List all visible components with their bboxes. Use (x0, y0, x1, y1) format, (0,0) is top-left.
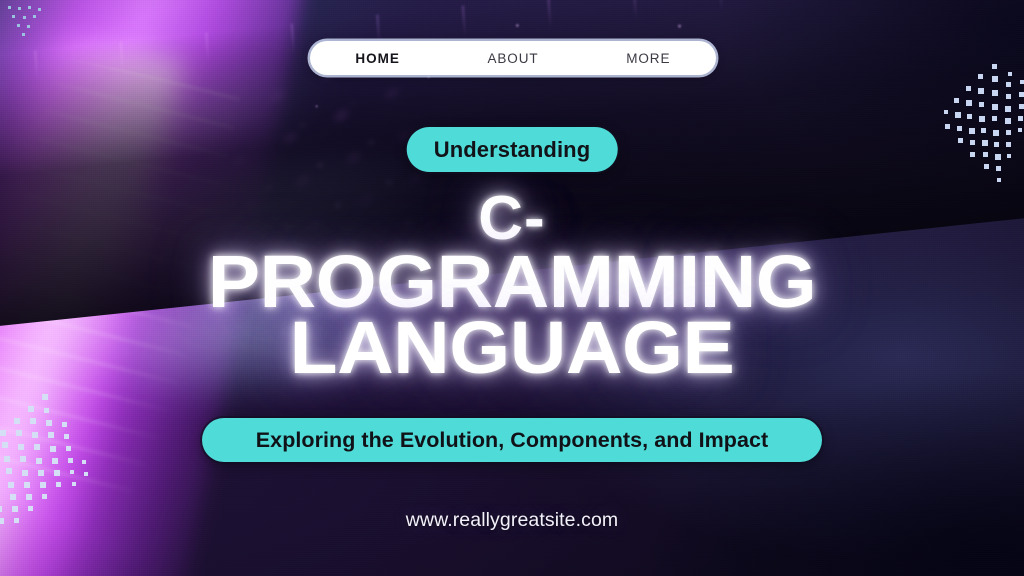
nav-item-more[interactable]: MORE (581, 51, 716, 66)
hero-subtitle: Exploring the Evolution, Components, and… (202, 418, 822, 462)
poster-canvas: HOME ABOUT MORE Understanding C- PROGRAM… (0, 0, 1024, 576)
website-url: www.reallygreatsite.com (0, 509, 1024, 532)
main-navigation[interactable]: HOME ABOUT MORE (310, 41, 716, 75)
dot-cluster-icon-top-left (6, 4, 52, 40)
nav-item-home[interactable]: HOME (310, 51, 445, 66)
dot-diamond-icon-top-right (932, 58, 1024, 194)
background-grain (0, 0, 1024, 576)
nav-item-about[interactable]: ABOUT (445, 51, 580, 66)
eyebrow-badge: Understanding (407, 127, 618, 172)
